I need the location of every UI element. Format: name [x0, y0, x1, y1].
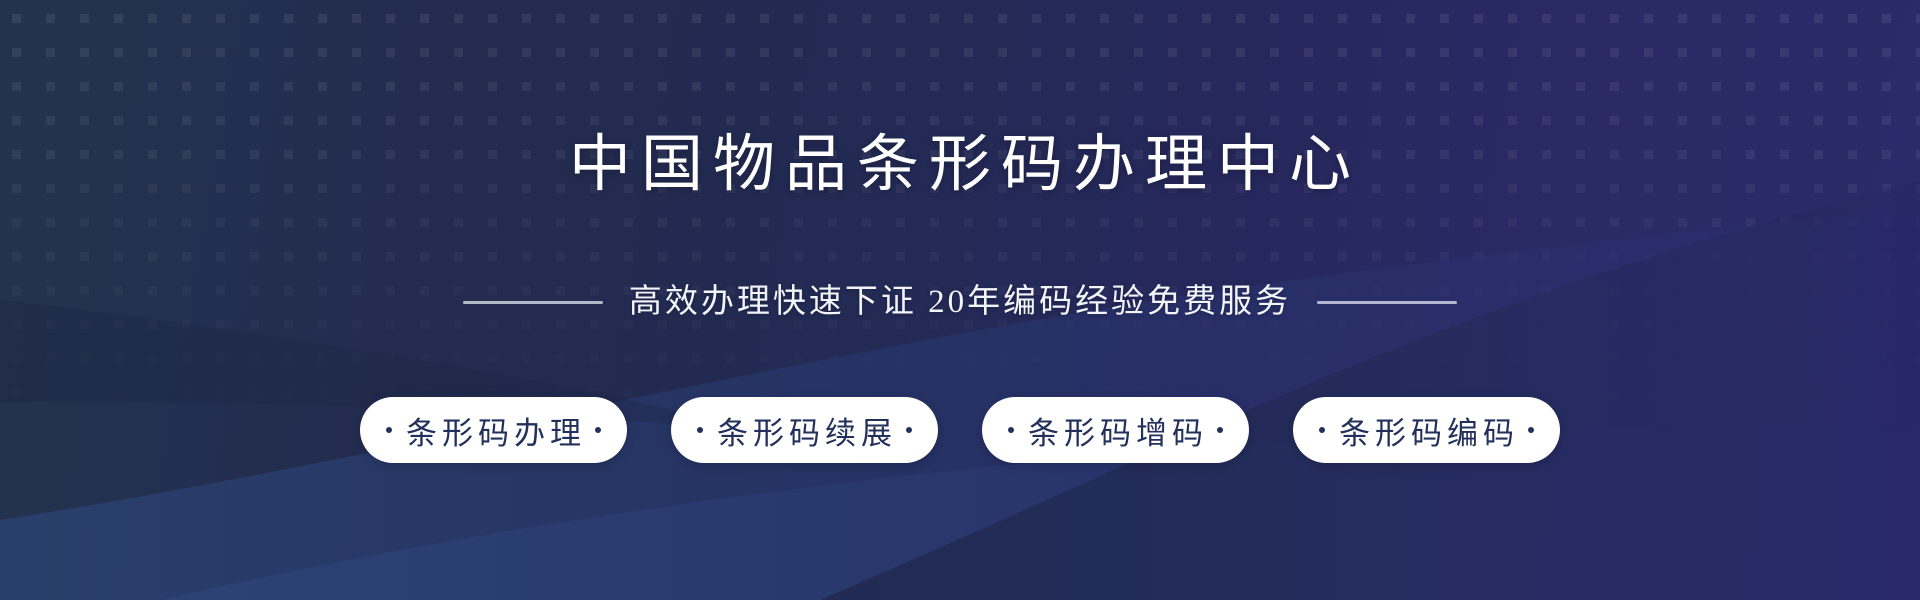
- bullet-dot-icon: [595, 427, 601, 433]
- pill-label: 条形码编码: [1325, 408, 1528, 453]
- page-title: 中国物品条形码办理中心: [0, 134, 1920, 196]
- banner-hero: 中国物品条形码办理中心 高效办理快速下证 20年编码经验免费服务 条形码办理 条…: [0, 0, 1920, 600]
- pill-label: 条形码续展: [703, 408, 906, 453]
- bullet-dot-icon: [1217, 427, 1223, 433]
- right-rule: [1317, 301, 1457, 304]
- subtitle-text: 高效办理快速下证 20年编码经验免费服务: [629, 283, 1291, 323]
- pill-label: 条形码增码: [1014, 408, 1217, 453]
- bullet-dot-icon: [906, 427, 912, 433]
- pill-label: 条形码办理: [392, 408, 595, 453]
- subtitle-row: 高效办理快速下证 20年编码经验免费服务: [0, 283, 1920, 323]
- banner-content: 中国物品条形码办理中心 高效办理快速下证 20年编码经验免费服务 条形码办理 条…: [0, 0, 1920, 600]
- pill-barcode-renew[interactable]: 条形码续展: [671, 397, 938, 463]
- pill-barcode-encode[interactable]: 条形码编码: [1293, 397, 1560, 463]
- pill-barcode-apply[interactable]: 条形码办理: [360, 397, 627, 463]
- pill-barcode-addcode[interactable]: 条形码增码: [982, 397, 1249, 463]
- bullet-dot-icon: [1528, 427, 1534, 433]
- service-pill-group: 条形码办理 条形码续展 条形码增码 条形码编码: [0, 397, 1920, 463]
- left-rule: [463, 301, 603, 304]
